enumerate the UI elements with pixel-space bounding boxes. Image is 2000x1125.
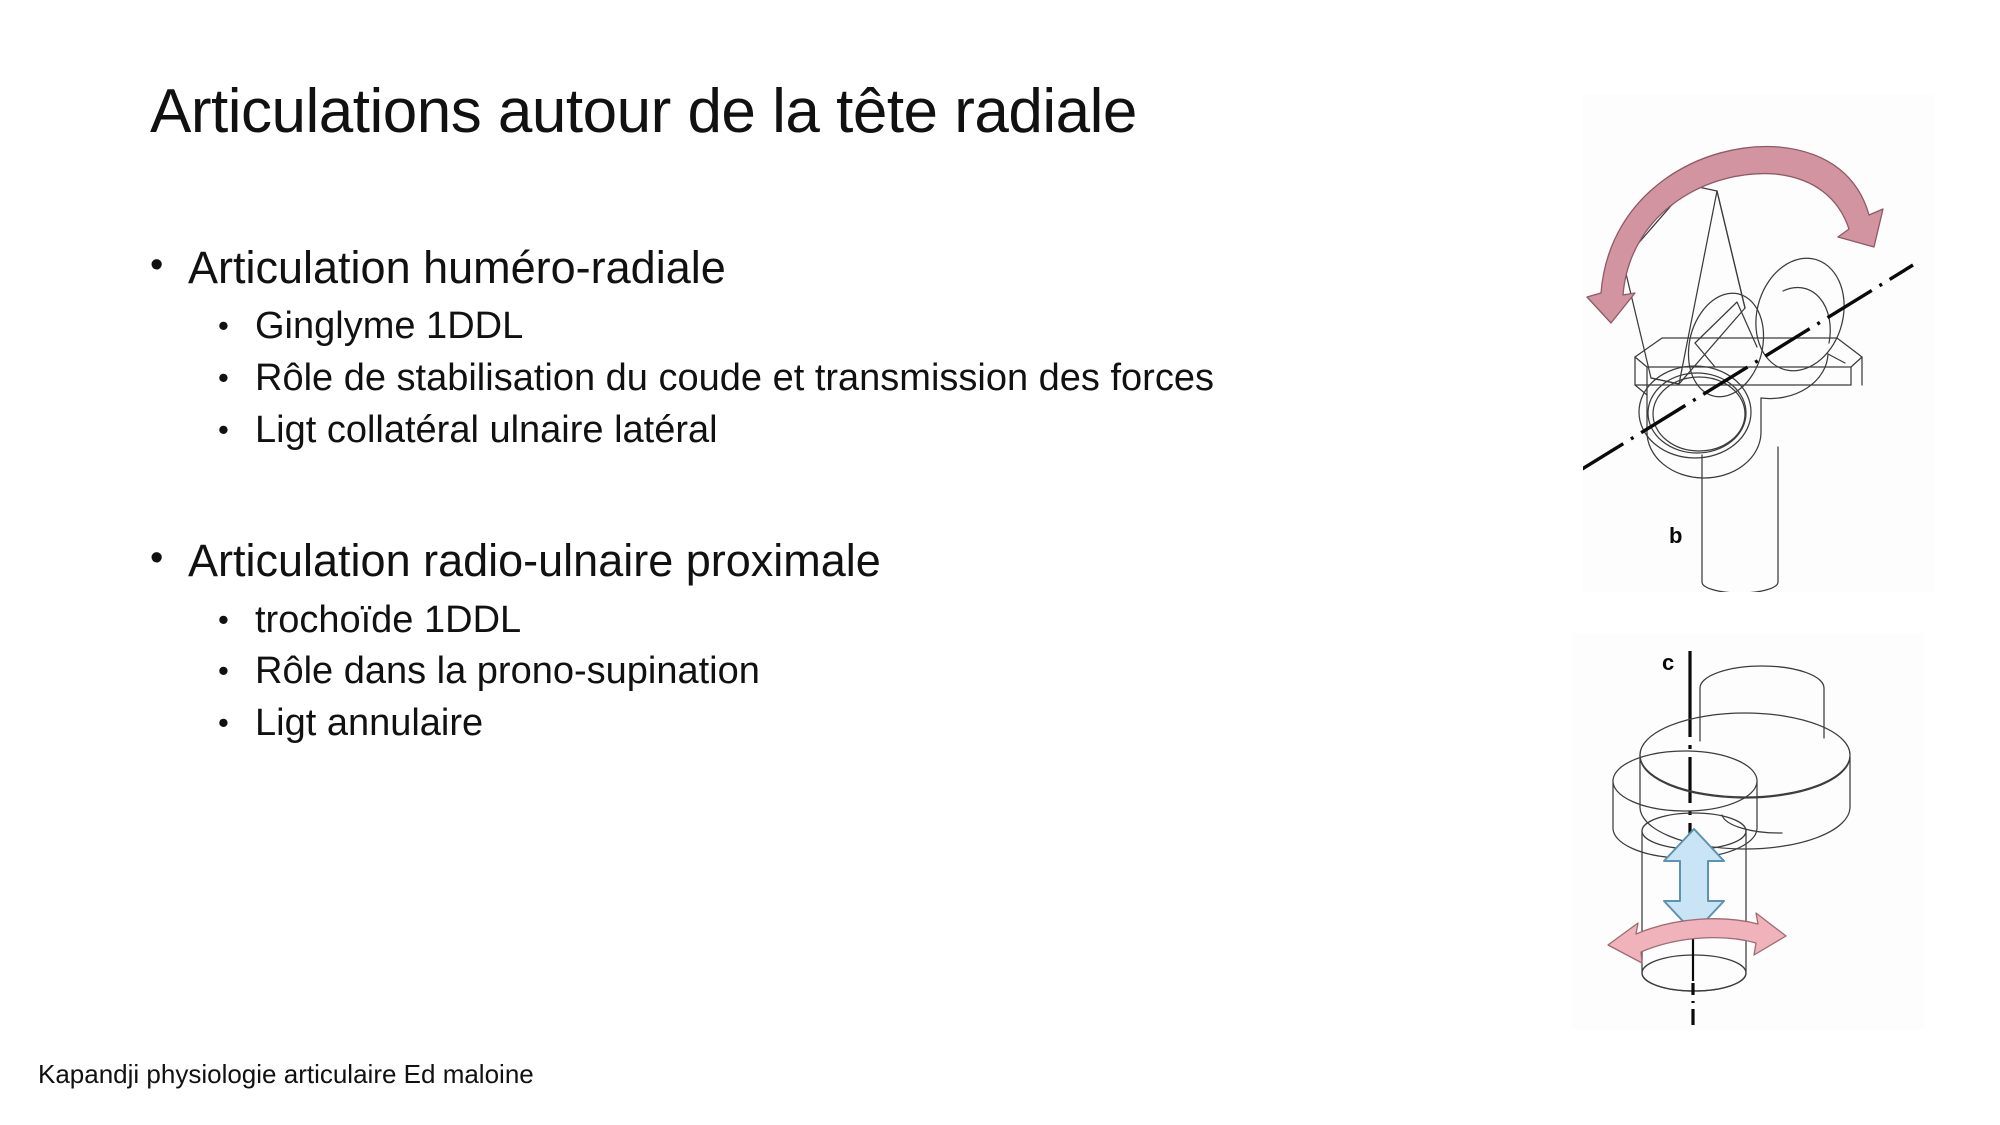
bullet-level2-item: • Rôle dans la prono-supination (150, 646, 1550, 698)
bullet-level2-label: Rôle de stabilisation du coude et transm… (255, 357, 1214, 399)
bullet-level2-item: • Ginglyme 1DDL (150, 301, 1550, 353)
hinge-joint-svg (1583, 95, 1935, 592)
content-body: • Articulation huméro-radiale • Ginglyme… (150, 243, 1550, 750)
figure-label-b: b (1669, 523, 1682, 549)
bullet-level2-item: • Ligt collatéral ulnaire latéral (150, 405, 1550, 457)
slide-canvas: Articulations autour de la tête radiale … (0, 0, 2000, 1125)
bullet-glyph-icon: • (218, 352, 229, 403)
bullet-level2-label: Ligt annulaire (255, 702, 483, 744)
hinge-joint-diagram: b (1583, 95, 1935, 592)
bullet-glyph-icon: • (218, 300, 229, 351)
bullet-level2-label: Ligt collatéral ulnaire latéral (255, 409, 718, 451)
bullet-level2-label: Ginglyme 1DDL (255, 305, 523, 347)
section-spacer (150, 456, 1550, 536)
bullet-glyph-icon: • (218, 594, 229, 645)
bullet-glyph-icon: • (218, 645, 229, 696)
bullet-level2-item: • Rôle de stabilisation du coude et tran… (150, 353, 1550, 405)
bullet-level1-section-1: • Articulation huméro-radiale (150, 243, 1550, 293)
pivot-joint-diagram: c (1572, 633, 1924, 1030)
figure-label-c: c (1662, 650, 1674, 676)
bullet-glyph-icon: • (218, 404, 229, 455)
rotation-arrow-icon (1587, 147, 1883, 323)
source-credit: Kapandji physiologie articulaire Ed malo… (38, 1059, 534, 1090)
sublist-section-2: • trochoïde 1DDL • Rôle dans la prono-su… (150, 595, 1550, 750)
translation-arrow-icon (1664, 829, 1724, 933)
bullet-level2-label: trochoïde 1DDL (255, 599, 521, 641)
bullet-glyph-icon: • (150, 241, 163, 290)
bullet-level1-section-2: • Articulation radio-ulnaire proximale (150, 536, 1550, 586)
bullet-glyph-icon: • (150, 534, 163, 583)
bullet-level2-label: Rôle dans la prono-supination (255, 650, 760, 692)
bullet-level1-label: Articulation huméro-radiale (188, 242, 726, 293)
sublist-section-1: • Ginglyme 1DDL • Rôle de stabilisation … (150, 301, 1550, 456)
bullet-level2-item: • Ligt annulaire (150, 698, 1550, 750)
bullet-glyph-icon: • (218, 697, 229, 748)
page-title: Articulations autour de la tête radiale (150, 78, 1530, 146)
bullet-level2-item: • trochoïde 1DDL (150, 595, 1550, 647)
bullet-level1-label: Articulation radio-ulnaire proximale (188, 535, 881, 586)
pivot-joint-svg (1572, 633, 1924, 1030)
